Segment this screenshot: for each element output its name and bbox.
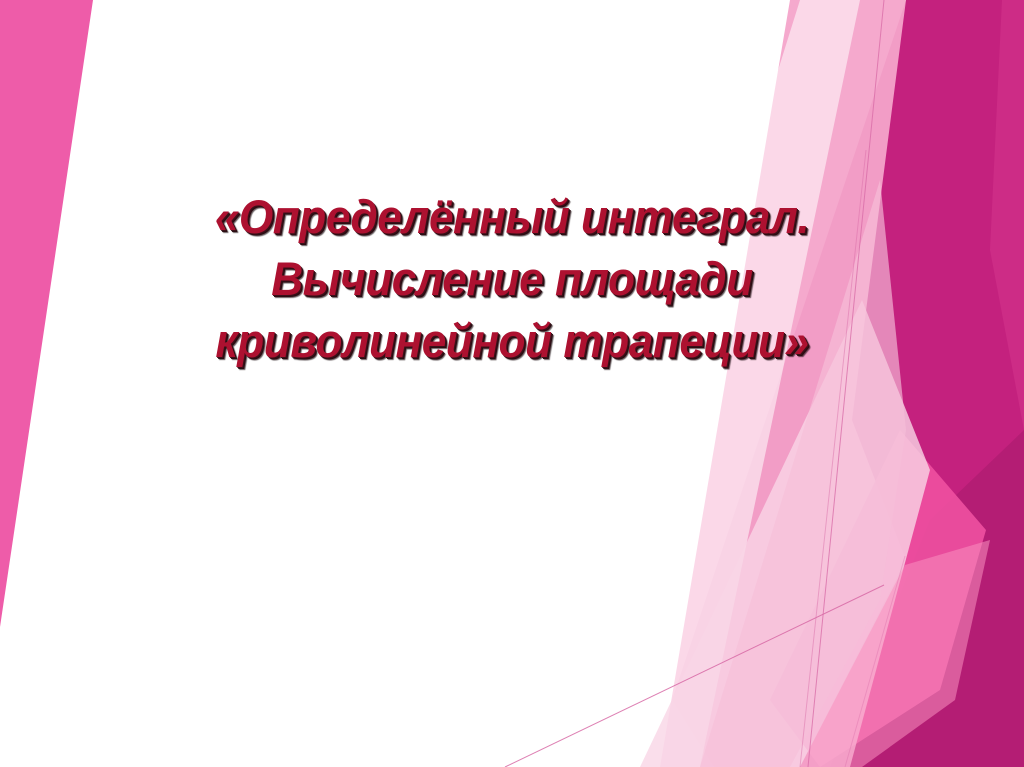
slide-decoration-layer <box>0 0 1024 767</box>
bottom-hairline-diagonal <box>505 585 884 767</box>
bottom-right-light-facet-shape <box>800 540 990 767</box>
right-deep-magenta-band-shape <box>672 0 1024 767</box>
slide-title: «Определённый интеграл. Вычисление площа… <box>96 186 928 372</box>
left-pink-wedge-shape <box>0 0 93 627</box>
title-line-2: Вычисление площади <box>121 248 903 310</box>
title-line-1: «Определённый интеграл. <box>121 186 903 248</box>
bottom-hairline-diagonal-2 <box>845 556 905 767</box>
right-edge-sliver-shape <box>990 0 1024 430</box>
title-line-3: криволинейной трапеции» <box>121 310 903 372</box>
presentation-slide: «Определённый интеграл. Вычисление площа… <box>0 0 1024 767</box>
right-dark-triangle-shape <box>830 430 1024 767</box>
right-pale-overlay-a-shape <box>560 0 860 767</box>
right-mid-pink-band-shape <box>660 0 906 767</box>
right-vivid-pink-wedge-shape <box>770 430 986 767</box>
vertical-hairline-a <box>808 0 884 767</box>
